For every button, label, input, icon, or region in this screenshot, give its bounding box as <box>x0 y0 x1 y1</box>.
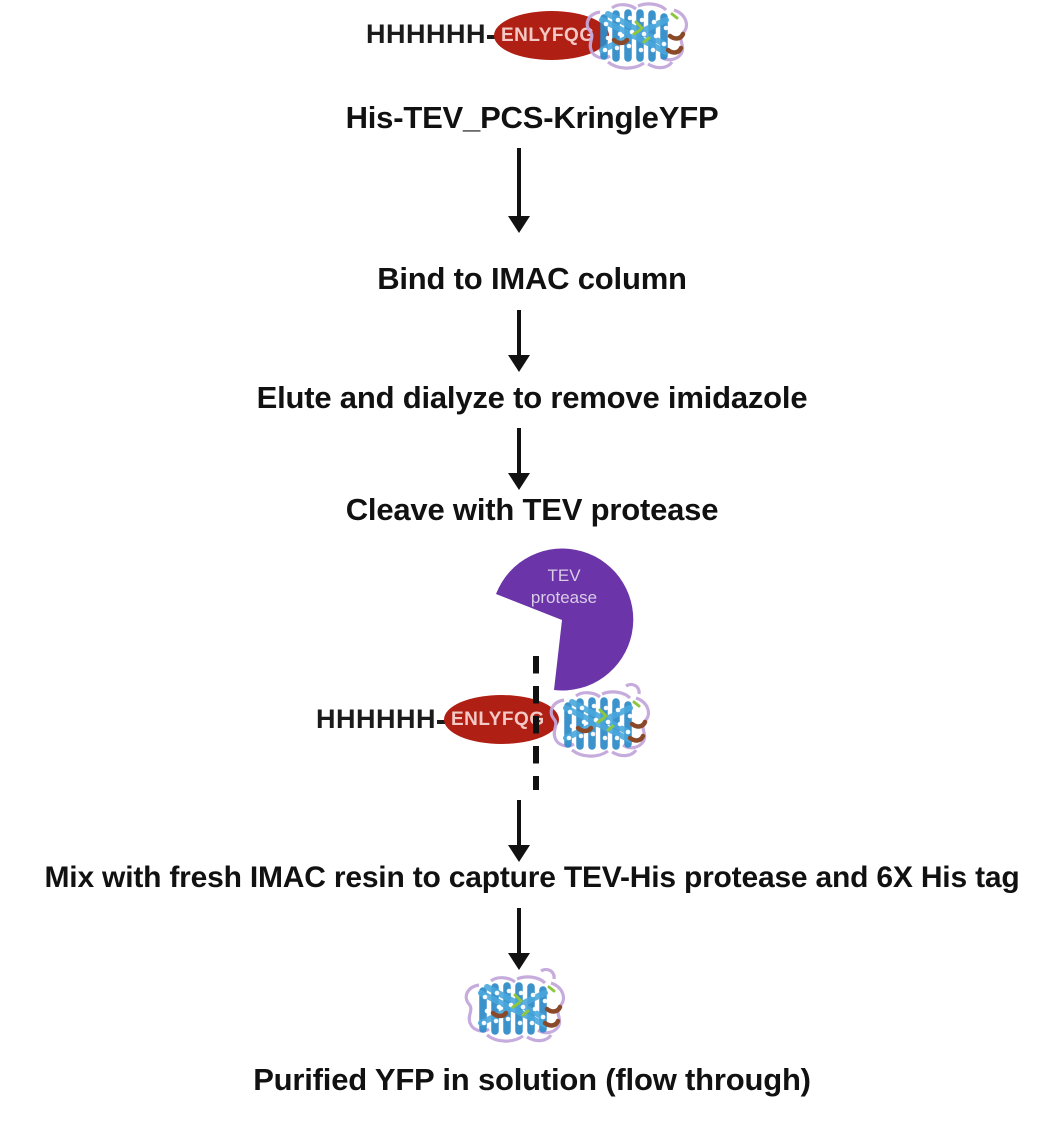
step-label-elute: Elute and dialyze to remove imidazole <box>0 380 1064 416</box>
step-label-bind: Bind to IMAC column <box>0 261 1064 297</box>
cleavage-dashed-line <box>533 656 539 790</box>
yfp-structure-product <box>455 963 573 1047</box>
arrow-mix-to-purified <box>506 908 532 970</box>
pcs-label-cleavage: ENLYFQG <box>444 709 545 731</box>
step-label-mix: Mix with fresh IMAC resin to capture TEV… <box>0 861 1064 895</box>
yfp-structure-top <box>578 0 696 72</box>
diagram-canvas: HHHHHH ENLYFQG <box>0 0 1064 1130</box>
yfp-structure-cleavage <box>540 678 658 762</box>
arrow-cleave-to-mix <box>506 800 532 862</box>
step-label-cleave: Cleave with TEV protease <box>0 492 1064 528</box>
arrow-bind-to-elute <box>506 310 532 372</box>
his-tag-label-cleavage: HHHHHH <box>316 704 436 735</box>
tev-protease-shape <box>488 546 636 694</box>
arrow-elute-to-cleave <box>506 428 532 490</box>
step-label-purified: Purified YFP in solution (flow through) <box>0 1062 1064 1098</box>
his-tag-label-top: HHHHHH <box>366 19 486 50</box>
arrow-construct-to-bind <box>506 148 532 233</box>
step-label-construct: His-TEV_PCS-KringleYFP <box>0 100 1064 136</box>
